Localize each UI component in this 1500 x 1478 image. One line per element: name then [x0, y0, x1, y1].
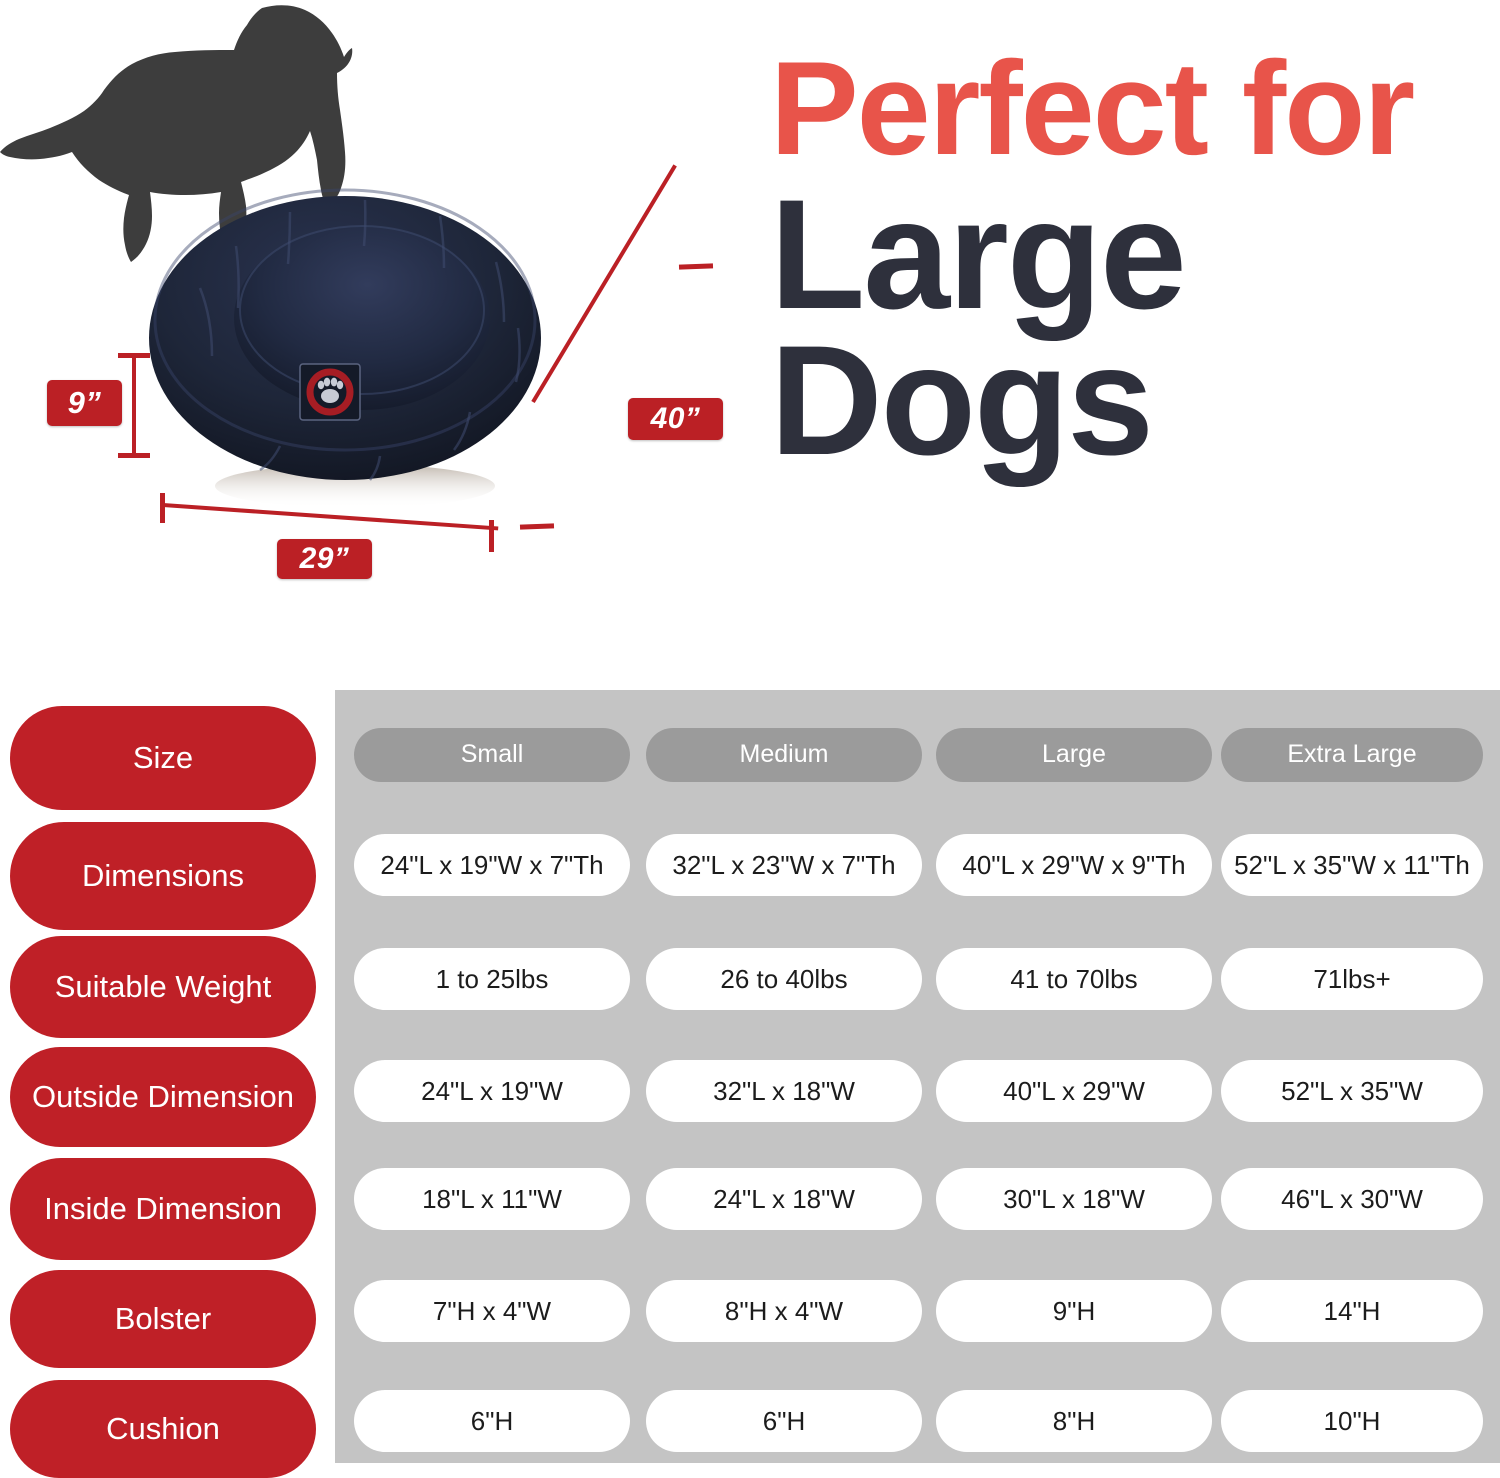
table-cell: 71lbs+: [1221, 948, 1483, 1010]
table-cell: 40"L x 29"W: [936, 1060, 1212, 1122]
table-cell: 46"L x 30"W: [1221, 1168, 1483, 1230]
length-leader-cap-bottom: [520, 523, 554, 529]
callout-bed-width: 29”: [277, 539, 372, 579]
table-cell: 32"L x 23"W x 7"Th: [646, 834, 922, 896]
headline-block: Perfect for Large Dogs: [770, 48, 1490, 473]
row-label-suitable-weight: Suitable Weight: [10, 936, 316, 1038]
table-cell: 14"H: [1221, 1280, 1483, 1342]
row-label-outside-dimension: Outside Dimension: [10, 1047, 316, 1147]
headline-line-1: Perfect for: [770, 48, 1490, 170]
row-label-cushion: Cushion: [10, 1380, 316, 1478]
table-cell: 40"L x 29"W x 9"Th: [936, 834, 1212, 896]
height-leader-cap-top: [118, 353, 150, 358]
table-cell: 24"L x 19"W x 7"Th: [354, 834, 630, 896]
column-header-medium[interactable]: Medium: [646, 728, 922, 782]
table-cell: 30"L x 18"W: [936, 1168, 1212, 1230]
table-cell: 1 to 25lbs: [354, 948, 630, 1010]
length-leader-cap-top: [679, 263, 713, 269]
width-leader-cap-left: [160, 493, 165, 523]
row-label-bolster: Bolster: [10, 1270, 316, 1368]
table-cell: 52"L x 35"W x 11"Th: [1221, 834, 1483, 896]
table-cell: 26 to 40lbs: [646, 948, 922, 1010]
table-cell: 8"H: [936, 1390, 1212, 1452]
product-photo-dog-bed: [140, 168, 560, 518]
table-cell: 7"H x 4"W: [354, 1280, 630, 1342]
table-cell: 18"L x 11"W: [354, 1168, 630, 1230]
height-leader-line: [132, 354, 136, 457]
callout-bed-width-value: 29”: [300, 542, 350, 576]
headline-line-3: Dogs: [770, 330, 1490, 474]
table-cell: 9"H: [936, 1280, 1212, 1342]
hero-section: 9” 29” 40” Perfect for Large Dogs: [0, 0, 1500, 690]
brand-tag: [300, 364, 360, 420]
row-label-size: Size: [10, 706, 316, 810]
column-header-large[interactable]: Large: [936, 728, 1212, 782]
table-cell: 6"H: [354, 1390, 630, 1452]
callout-bed-length-value: 40”: [651, 402, 701, 436]
table-cell: 32"L x 18"W: [646, 1060, 922, 1122]
table-cell: 24"L x 19"W: [354, 1060, 630, 1122]
row-label-dimensions: Dimensions: [10, 822, 316, 930]
table-cell: 24"L x 18"W: [646, 1168, 922, 1230]
column-header-small[interactable]: Small: [354, 728, 630, 782]
table-cell: 6"H: [646, 1390, 922, 1452]
headline-line-2: Large: [770, 184, 1490, 328]
size-spec-table: Size Dimensions Suitable Weight Outside …: [0, 690, 1500, 1463]
width-leader-cap-right: [489, 520, 494, 552]
table-cell: 8"H x 4"W: [646, 1280, 922, 1342]
callout-bolster-height-value: 9”: [68, 385, 102, 421]
table-cell: 52"L x 35"W: [1221, 1060, 1483, 1122]
table-cell: 10"H: [1221, 1390, 1483, 1452]
row-label-inside-dimension: Inside Dimension: [10, 1158, 316, 1260]
callout-bolster-height: 9”: [47, 380, 122, 426]
callout-bed-length: 40”: [628, 398, 723, 440]
table-cell: 41 to 70lbs: [936, 948, 1212, 1010]
column-header-extra-large[interactable]: Extra Large: [1221, 728, 1483, 782]
height-leader-cap-bottom: [118, 453, 150, 458]
